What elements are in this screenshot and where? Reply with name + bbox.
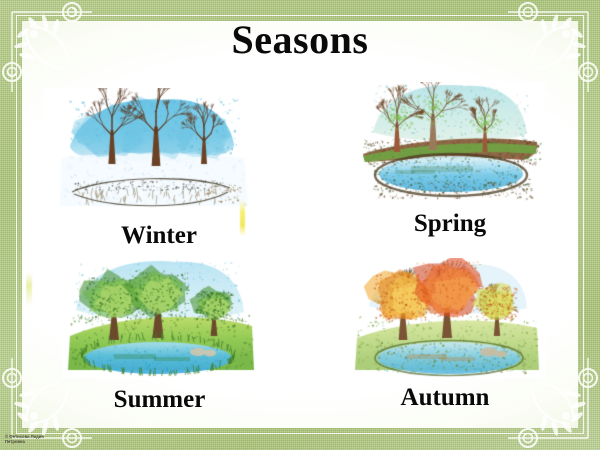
seasons-slide: Seasons Winter Spring Summer Autumn © Фе… bbox=[0, 0, 600, 450]
season-label-spring: Spring bbox=[355, 210, 545, 238]
pale-streak-artifact bbox=[26, 272, 32, 306]
yellow-streak-artifact bbox=[240, 200, 245, 236]
copyright-credit: © Фетисова Лидия Петровна bbox=[5, 434, 44, 445]
season-label-autumn: Autumn bbox=[345, 384, 545, 412]
summer-landscape-image bbox=[62, 258, 257, 378]
season-cell-summer: Summer bbox=[62, 258, 257, 414]
season-cell-autumn: Autumn bbox=[345, 258, 545, 412]
autumn-landscape-image bbox=[345, 258, 545, 378]
season-cell-spring: Spring bbox=[355, 82, 545, 238]
season-label-summer: Summer bbox=[62, 386, 257, 414]
page-title: Seasons bbox=[0, 16, 600, 63]
spring-landscape-image bbox=[355, 82, 545, 204]
winter-landscape-image bbox=[44, 88, 274, 216]
